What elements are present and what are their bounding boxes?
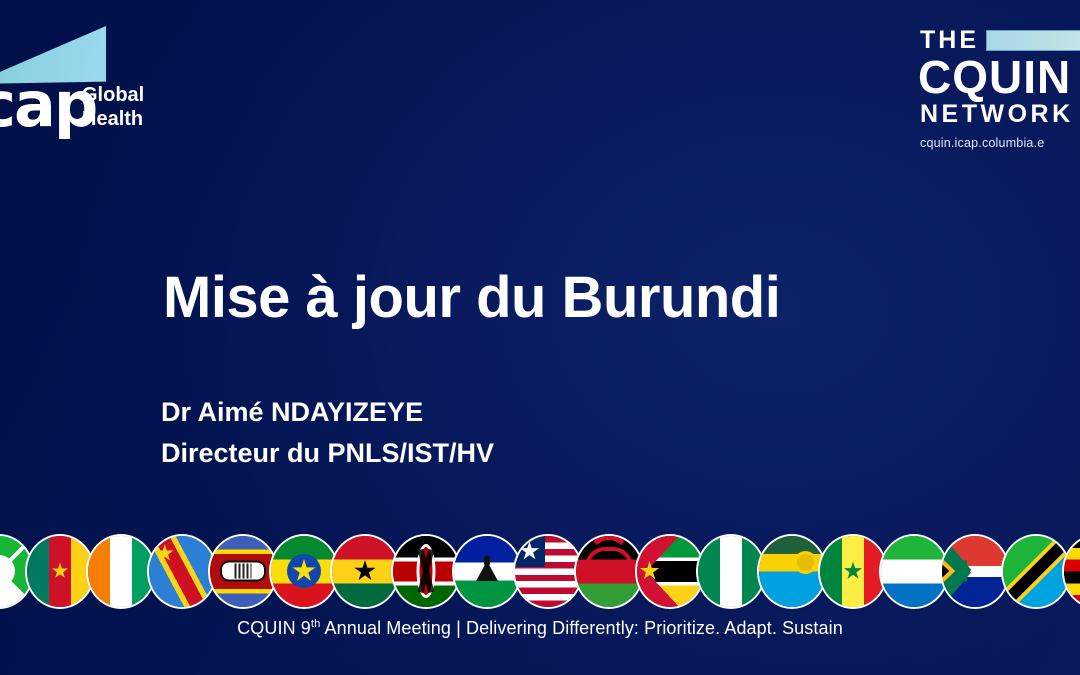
slide-title: Mise à jour du Burundi — [163, 268, 780, 329]
flag-ls — [454, 536, 520, 607]
flag-tz — [1003, 536, 1069, 607]
flag-mz — [637, 536, 703, 607]
flag-cm — [27, 536, 93, 607]
icap-tagline: Global Health — [82, 84, 144, 131]
cquin-name-text: CQUIN — [918, 54, 1080, 101]
flag-ke — [393, 536, 459, 607]
flag-ci — [88, 536, 154, 607]
flag-gh — [332, 536, 398, 607]
presenter-role: Directeur du PNLS/IST/HV — [161, 433, 494, 474]
flag-rw — [759, 536, 825, 607]
flag-sl — [881, 536, 947, 607]
presenter-name: Dr Aimé NDAYIZEYE — [161, 392, 494, 433]
icap-tagline-line2: Health — [82, 108, 144, 132]
icap-tagline-line1: Global — [82, 84, 144, 108]
cquin-network-logo: THE CQUIN NETWORK cquin.icap.columbia.e — [908, 28, 1080, 150]
footer-ordinal: th — [311, 618, 321, 630]
country-flag-strip — [0, 534, 1080, 608]
slide-footer: CQUIN 9th Annual Meeting | Delivering Di… — [0, 618, 1080, 639]
flag-mw — [576, 536, 642, 607]
flag-ug — [1064, 536, 1080, 607]
cquin-network-text: NETWORK — [920, 102, 1080, 127]
flag-et — [271, 536, 337, 607]
flag-sn — [820, 536, 886, 607]
presentation-slide: icap Global Health THE CQUIN NETWORK cqu… — [0, 0, 1080, 675]
cquin-accent-bar — [986, 30, 1080, 51]
cquin-the-text: THE — [920, 28, 979, 53]
footer-meeting-suffix: Annual Meeting | Delivering Differently:… — [320, 618, 842, 638]
flag-za — [942, 536, 1008, 607]
cquin-the-row: THE — [920, 28, 1080, 53]
presenter-block: Dr Aimé NDAYIZEYE Directeur du PNLS/IST/… — [161, 392, 494, 474]
flag-ng — [698, 536, 764, 607]
cquin-url-text: cquin.icap.columbia.e — [920, 136, 1080, 150]
flag-lr — [515, 536, 581, 607]
icap-global-health-logo: icap Global Health — [0, 22, 196, 150]
flag-sz — [210, 536, 276, 607]
flag-cd — [149, 536, 215, 607]
footer-meeting-prefix: CQUIN 9 — [237, 618, 311, 638]
